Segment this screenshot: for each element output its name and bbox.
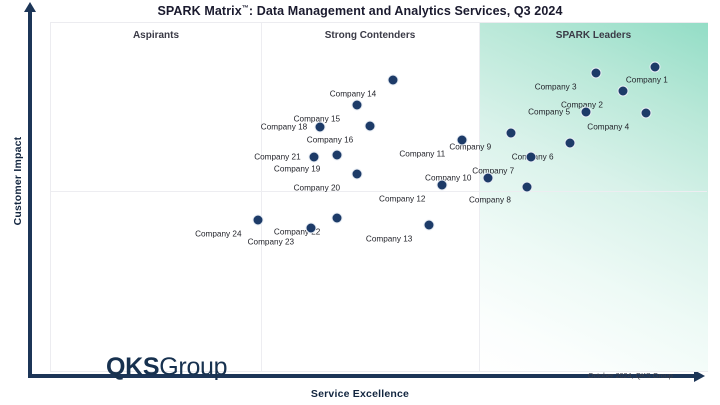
data-point-label: Company 4 (587, 123, 629, 132)
data-point[interactable] (331, 150, 342, 161)
data-point[interactable] (387, 75, 398, 86)
data-point-label: Company 24 (195, 229, 241, 238)
quadrant-label-strong-contenders: Strong Contenders (261, 30, 479, 41)
data-point[interactable] (315, 122, 326, 133)
data-point[interactable] (505, 127, 516, 138)
y-axis-label: Customer Impact (12, 121, 24, 241)
trademark-symbol: ™ (242, 5, 249, 12)
logo-qks-text: QKS (106, 353, 159, 381)
quadrant-label-spark-leaders: SPARK Leaders (479, 30, 708, 41)
qks-group-logo: QKSGroup (106, 353, 227, 382)
data-point[interactable] (436, 179, 447, 190)
data-point[interactable] (640, 108, 651, 119)
data-point-label: Company 7 (472, 166, 514, 175)
quadrant-label-aspirants: Aspirants (51, 30, 261, 41)
data-point[interactable] (522, 181, 533, 192)
data-point[interactable] (252, 214, 263, 225)
data-point[interactable] (308, 151, 319, 162)
data-point-label: Company 20 (294, 184, 340, 193)
logo-group-text: Group (159, 353, 227, 381)
data-point-label: Company 10 (425, 173, 471, 182)
data-point[interactable] (650, 61, 661, 72)
data-point[interactable] (525, 151, 536, 162)
data-point-label: Company 18 (261, 123, 307, 132)
data-point-label: Company 13 (366, 234, 412, 243)
data-point-label: Company 21 (254, 152, 300, 161)
data-point-label: Company 3 (535, 83, 577, 92)
data-point[interactable] (581, 106, 592, 117)
y-axis-line (28, 10, 32, 378)
data-point[interactable] (364, 120, 375, 131)
data-point[interactable] (456, 134, 467, 145)
plot-area: Aspirants Strong Contenders SPARK Leader… (50, 22, 708, 372)
data-point-label: Company 11 (399, 149, 445, 158)
data-point-label: Company 19 (274, 165, 320, 174)
page-title: SPARK Matrix™: Data Management and Analy… (0, 4, 720, 18)
data-point[interactable] (351, 169, 362, 180)
data-point-label: Company 9 (449, 142, 491, 151)
title-rest: : Data Management and Analytics Services… (249, 4, 563, 18)
data-point[interactable] (482, 172, 493, 183)
data-point[interactable] (591, 68, 602, 79)
spark-matrix-chart: SPARK Matrix™: Data Management and Analy… (0, 0, 720, 405)
data-point[interactable] (617, 85, 628, 96)
grid-hline-1 (51, 191, 707, 192)
data-point[interactable] (351, 99, 362, 110)
footnote: October 2024, QKS Group (588, 371, 673, 380)
data-point-label: Company 14 (330, 90, 376, 99)
data-point[interactable] (565, 138, 576, 149)
title-main: SPARK Matrix (157, 4, 241, 18)
data-point-label: Company 5 (528, 107, 570, 116)
data-point[interactable] (331, 212, 342, 223)
data-point[interactable] (305, 223, 316, 234)
data-point-label: Company 16 (307, 135, 353, 144)
data-point[interactable] (423, 219, 434, 230)
grid-vline-1 (261, 23, 262, 371)
data-point-label: Company 23 (248, 238, 294, 247)
data-point-label: Company 12 (379, 194, 425, 203)
data-point-label: Company 1 (626, 76, 668, 85)
x-axis-label: Service Excellence (0, 388, 720, 400)
data-point-label: Company 8 (469, 196, 511, 205)
y-axis-arrow-icon (24, 2, 36, 12)
